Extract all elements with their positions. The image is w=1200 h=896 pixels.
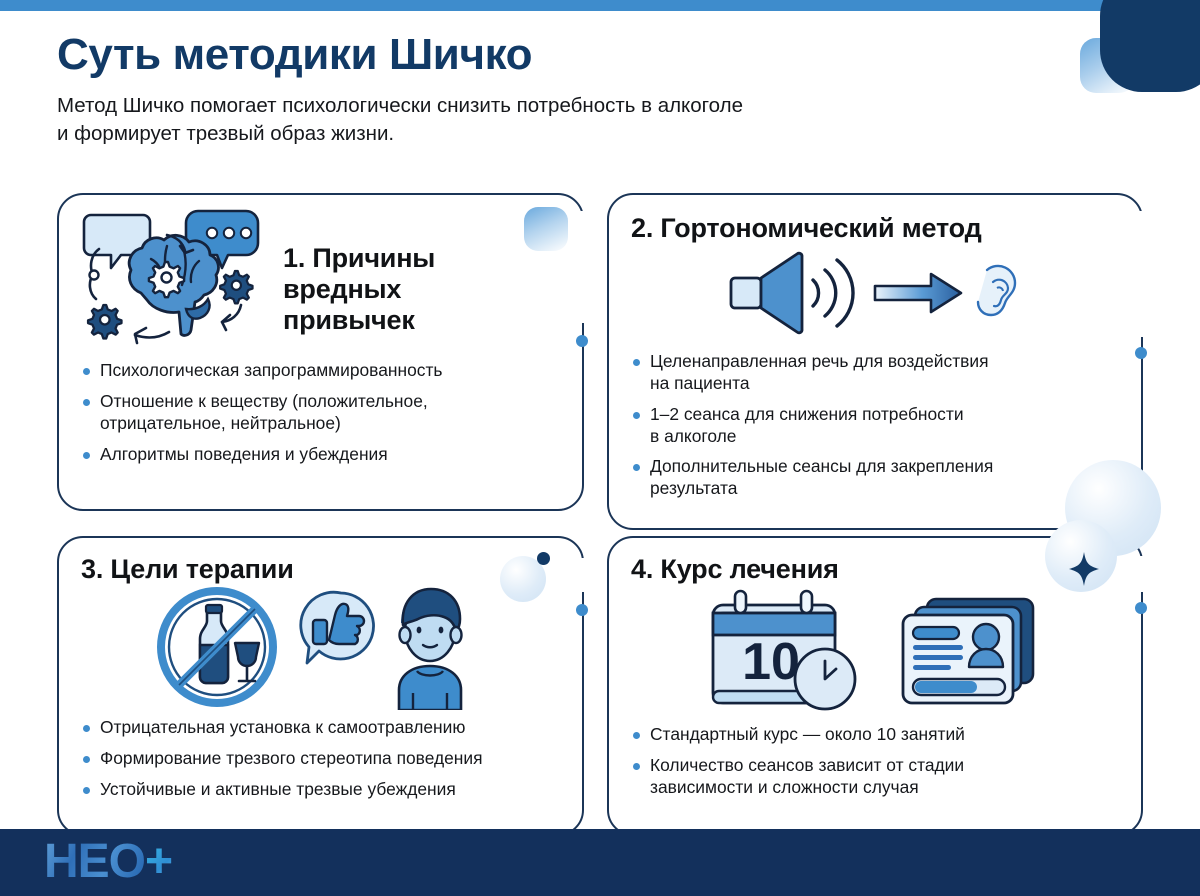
card-4-border-gap xyxy=(1137,556,1145,592)
card-treatment-course: 4. Курс лечения 10 xyxy=(607,536,1143,836)
card-2-edge-dot xyxy=(1135,347,1147,359)
brand-logo-plus: + xyxy=(145,835,172,888)
list-item: Психологическая запрограммированность xyxy=(81,360,560,382)
page-subtitle: Метод Шичко помогает психологически сниз… xyxy=(57,92,987,147)
footer-bar: HEO+ xyxy=(0,829,1200,896)
calendar-clock-cards-icon: 10 xyxy=(631,587,1119,720)
card-4-bullets: Стандартный курс — около 10 занятий Коли… xyxy=(631,724,1119,799)
corner-decoration-blob xyxy=(1100,0,1200,92)
card-3-edge-dot xyxy=(576,604,588,616)
speaker-arrow-ear-icon xyxy=(631,250,1119,341)
card-3-decoration-dot xyxy=(537,552,550,565)
list-item: Устойчивые и активные трезвые убеждения xyxy=(81,779,560,801)
page-header: Суть методики Шичко Метод Шичко помогает… xyxy=(57,32,1037,147)
card-causes-of-bad-habits: 1. Причины вредных привычек Психологичес… xyxy=(57,193,584,511)
list-item: Формирование трезвого стереотипа поведен… xyxy=(81,748,560,770)
card-title-4: 4. Курс лечения xyxy=(631,554,1119,585)
card-1-border-gap xyxy=(578,211,586,323)
list-item: 1–2 сеанса для снижения потребности в ал… xyxy=(631,404,1119,448)
card-title-3: 3. Цели терапии xyxy=(81,554,560,585)
brand-logo: HEO+ xyxy=(44,838,172,886)
list-item: Дополнительные сеансы для закрепления ре… xyxy=(631,456,1119,500)
card-3-bullets: Отрицательная установка к самоотравлению… xyxy=(81,717,560,801)
top-accent-bar xyxy=(0,0,1200,11)
page-title: Суть методики Шичко xyxy=(57,32,1037,78)
list-item: Целенаправленная речь для воздействия на… xyxy=(631,351,1119,395)
card-1-edge-dot xyxy=(576,335,588,347)
list-item: Алгоритмы поведения и убеждения xyxy=(81,444,560,466)
list-item: Стандартный курс — около 10 занятий xyxy=(631,724,1119,746)
list-item: Отрицательная установка к самоотравлению xyxy=(81,717,560,739)
card-1-bullets: Психологическая запрограммированность От… xyxy=(81,360,560,466)
card-4-edge-dot xyxy=(1135,602,1147,614)
no-alcohol-thumbsup-person-icon xyxy=(81,585,560,715)
card-hortonomic-method: 2. Гортономический метод xyxy=(607,193,1143,530)
brain-gears-speech-bubbles-icon xyxy=(81,209,271,354)
card-3-border-gap xyxy=(578,558,586,592)
card-therapy-goals: 3. Цели терапии xyxy=(57,536,584,836)
brand-logo-text: HEO xyxy=(44,835,145,888)
card-title-2: 2. Гортономический метод xyxy=(631,213,1119,244)
sparkle-icon xyxy=(1069,552,1099,591)
calendar-day-number: 10 xyxy=(742,633,800,691)
card-title-1: 1. Причины вредных привычек xyxy=(283,243,435,335)
card-2-bullets: Целенаправленная речь для воздействия на… xyxy=(631,351,1119,501)
list-item: Количество сеансов зависит от стадии зав… xyxy=(631,755,1119,799)
list-item: Отношение к веществу (положительное, отр… xyxy=(81,391,560,435)
card-2-border-gap xyxy=(1137,211,1145,337)
